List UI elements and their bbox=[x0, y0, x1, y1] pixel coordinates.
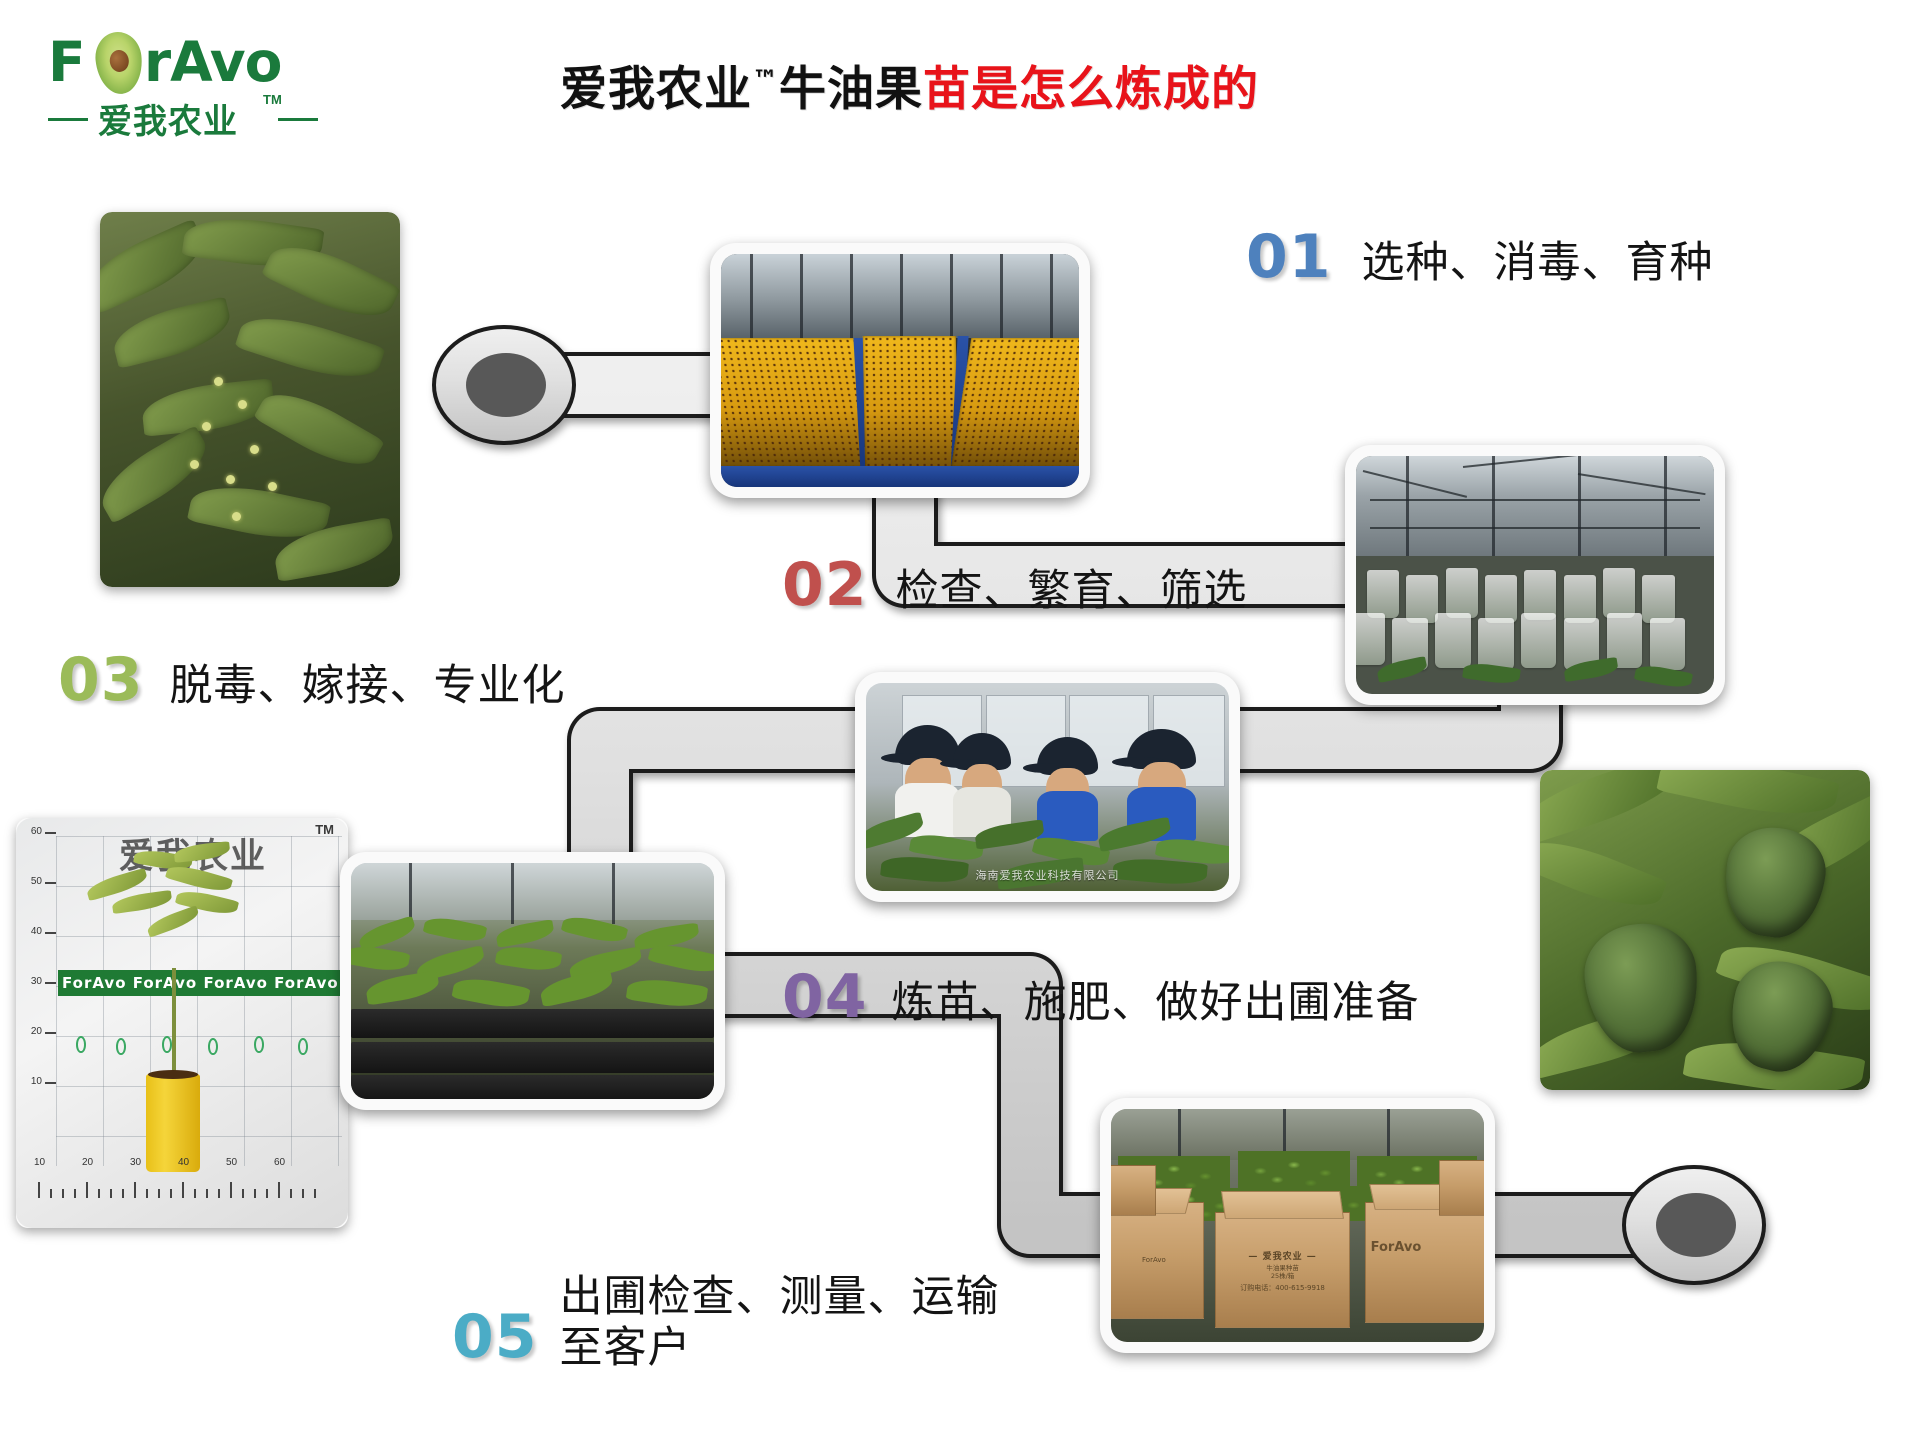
step-01: 01 选种、消毒、育种 bbox=[1246, 222, 1714, 292]
seedling-pot bbox=[146, 1074, 200, 1172]
photo-staff-inspecting-seedlings: 海南爱我农业科技有限公司 bbox=[855, 672, 1240, 902]
step-02-text: 检查、繁育、筛选 bbox=[896, 556, 1248, 618]
step-04: 04 炼苗、施肥、做好出圃准备 bbox=[782, 962, 1420, 1032]
step-02-number: 02 bbox=[782, 550, 868, 620]
step-03-text: 脱毒、嫁接、专业化 bbox=[170, 651, 566, 713]
photo-potted-young-trees bbox=[340, 852, 725, 1110]
step-03-number: 03 bbox=[58, 645, 144, 715]
photo-seedling-measurement-board: 爱我农业 TM 60 50 40 30 20 10 ForAvo ForAvo … bbox=[16, 818, 348, 1228]
step-05-text-block: 出圃检查、测量、运输 至客户 bbox=[560, 1272, 1000, 1373]
step-03: 03 脱毒、嫁接、专业化 bbox=[58, 645, 566, 715]
step-01-number: 01 bbox=[1246, 222, 1332, 292]
board-foravo-band: ForAvo ForAvo ForAvo ForAvo bbox=[58, 970, 348, 996]
photo-avocado-flowering-branch bbox=[100, 212, 400, 587]
step-05-text-line2: 至客户 bbox=[560, 1323, 1000, 1374]
step-02: 02 检查、繁育、筛选 bbox=[782, 550, 1248, 620]
step-04-number: 04 bbox=[782, 962, 868, 1032]
step-05-number: 05 bbox=[452, 1302, 538, 1372]
step-05: 05 出圃检查、测量、运输 至客户 bbox=[452, 1272, 1000, 1373]
step-04-text: 炼苗、施肥、做好出圃准备 bbox=[892, 968, 1420, 1030]
box-phone: 订购电话：400-615-9918 bbox=[1224, 1284, 1340, 1293]
box-brand: 爱我农业 bbox=[1263, 1252, 1303, 1262]
board-horizontal-ruler: 10 20 30 40 50 60 bbox=[24, 1170, 342, 1198]
photo-shipping-boxes: ForAvo — 爱我农业 — 牛油果种苗 25株/箱 订购电话：400-615… bbox=[1100, 1098, 1495, 1353]
photo-watermark: 海南爱我农业科技有限公司 bbox=[976, 867, 1120, 883]
photo-avocado-fruit-on-tree bbox=[1540, 770, 1870, 1090]
box-side-brand: ForAvo bbox=[1142, 1256, 1166, 1264]
step-05-text-line1: 出圃检查、测量、运输 bbox=[560, 1272, 1000, 1323]
board-vertical-ruler: 60 50 40 30 20 10 bbox=[28, 832, 56, 1172]
photo-greenhouse-seed-trays bbox=[710, 243, 1090, 498]
step-01-text: 选种、消毒、育种 bbox=[1362, 228, 1714, 290]
photo-nursery-bagged-plants bbox=[1345, 445, 1725, 705]
pipe-start-node bbox=[432, 325, 576, 445]
pipe-end-node bbox=[1622, 1165, 1766, 1285]
box-side-brand-2: ForAvo bbox=[1371, 1240, 1422, 1255]
box-line3: 25株/箱 bbox=[1224, 1272, 1340, 1281]
board-tm: TM bbox=[315, 822, 334, 837]
